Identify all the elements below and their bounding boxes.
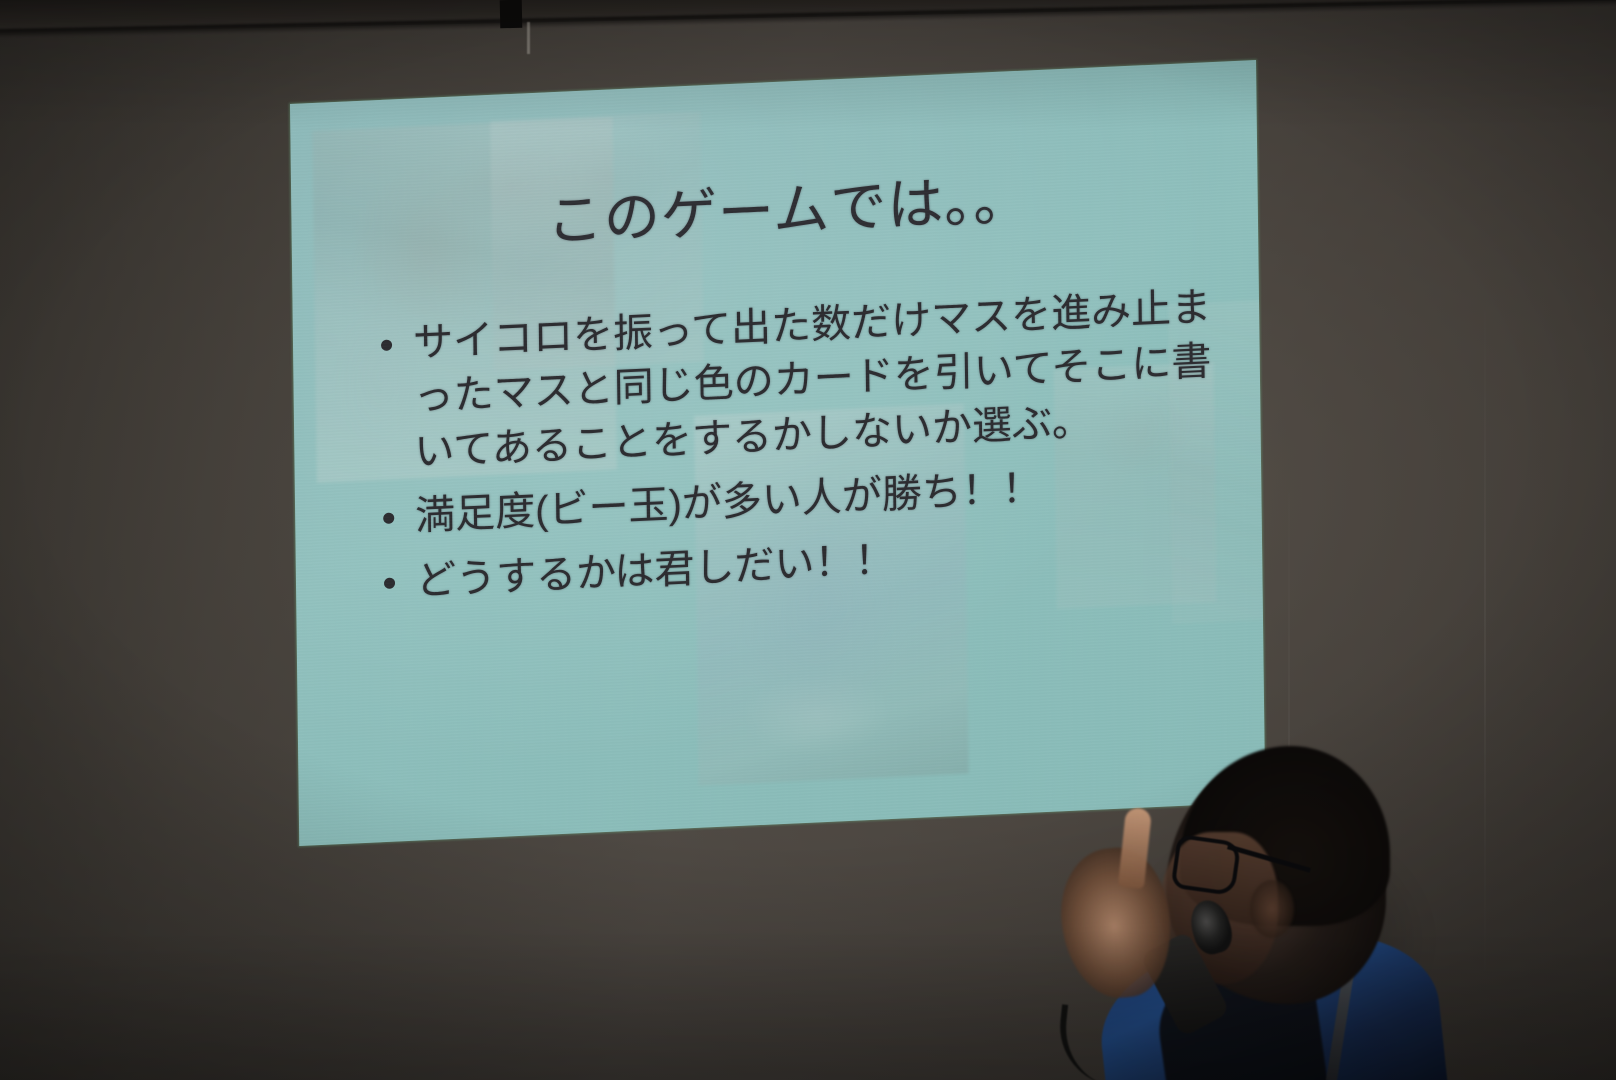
list-item: どうするかは君しだい！！ [380,518,1221,611]
slide-photo-top-left-second [490,111,703,371]
microphone-cable [1054,1004,1136,1080]
slide-content: このゲームでは。。 サイコロを振って出た数だけマスを進み止まったマスと同じ色のカ… [290,60,1265,846]
slide-title: このゲームでは。。 [291,158,1258,264]
slide-photo-center-bottom [694,404,969,786]
presenter-ear [1250,880,1294,938]
presenter-silhouette [1040,740,1460,1080]
beam-bracket [500,0,523,28]
photo-scene: このゲームでは。。 サイコロを振って出た数だけマスを進み止まったマスと同じ色のカ… [0,0,1616,1080]
slide-photo-right [1054,362,1217,609]
slide-photo-right-edge [1168,300,1265,624]
hanging-cord [527,22,530,54]
list-item: 満足度(ビー玉)が多い人が勝ち！！ [379,453,1220,546]
bullet-dot-icon [384,577,395,589]
slide-bullet-list: サイコロを振って出た数だけマスを進み止まったマスと同じ色のカードを引いてそこに書… [377,280,1221,620]
wall-seam [1484,290,1486,990]
bullet-text: サイコロを振って出た数だけマスを進み止まったマスと同じ色のカードを引いてそこに書… [413,280,1219,480]
bullet-text: 満足度(ビー玉)が多い人が勝ち！！ [415,453,1220,544]
slide-photo-top-left [312,117,616,483]
glasses-icon [1171,834,1242,896]
list-item: サイコロを振って出た数だけマスを進み止まったマスと同じ色のカードを引いてそこに書… [377,280,1219,481]
bullet-dot-icon [383,513,394,525]
bullet-dot-icon [381,339,392,351]
projection-grain [290,60,1265,846]
bullet-text: どうするかは君しだい！！ [416,518,1221,609]
projected-slide[interactable]: このゲームでは。。 サイコロを振って出た数だけマスを進み止まったマスと同じ色のカ… [290,60,1265,846]
projection-tone [290,60,1265,846]
